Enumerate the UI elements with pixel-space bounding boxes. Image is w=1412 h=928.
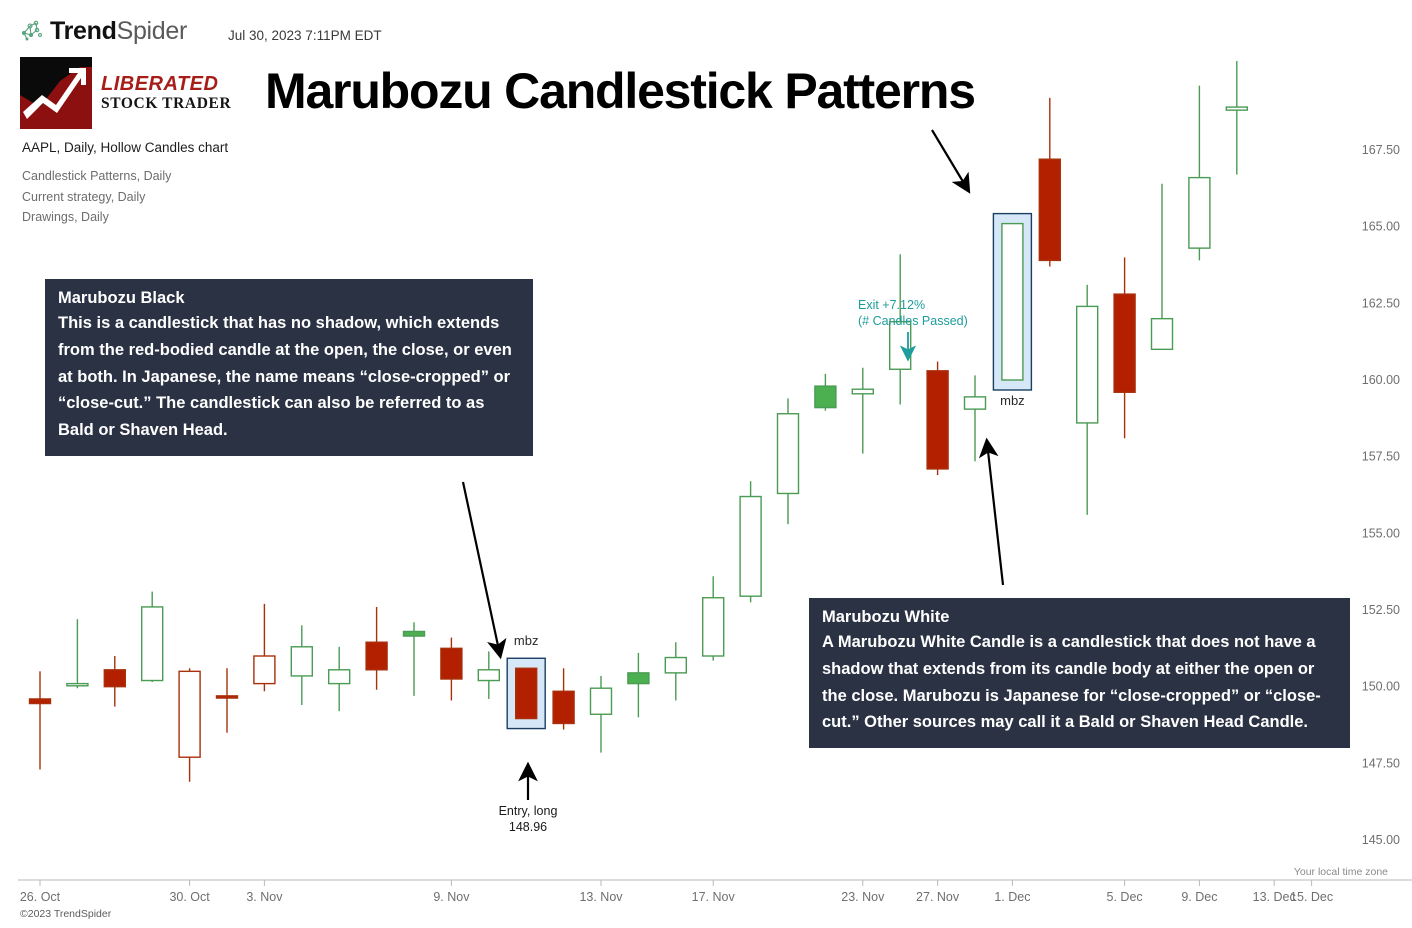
page-title: Marubozu Candlestick Patterns [265,62,975,120]
trendspider-brand: TrendSpider [18,18,187,44]
pattern-tag-mbz-white: mbz [1000,393,1025,408]
pattern-highlight-box [993,214,1031,390]
candlestick [1039,98,1060,267]
meta-line-candlestick-patterns: Candlestick Patterns, Daily [22,166,171,187]
capture-timestamp: Jul 30, 2023 7:11PM EDT [228,28,382,43]
candlestick [1077,285,1098,515]
exit-candles-passed: (# Candles Passed) [858,314,968,330]
liberated-stock-trader-logo: LIBERATED STOCK TRADER [20,57,231,129]
candlestick [740,481,761,602]
date-axis-tick: 5. Dec [1107,890,1143,904]
candlestick [329,647,350,711]
spider-node-graph-icon [18,18,44,44]
candlestick [1114,257,1135,438]
date-axis-tick: 3. Nov [246,890,283,904]
copyright-notice: ©2023 TrendSpider [20,908,111,920]
rising-chart-arrow-icon [20,57,92,129]
candlestick [516,668,537,718]
candlestick [1002,224,1023,380]
callout-marubozu-black: Marubozu Black This is a candlestick tha… [45,279,533,456]
candlestick [478,651,499,699]
candlestick [1226,61,1247,174]
entry-trade-label: Entry, long 148.96 [499,803,558,835]
lst-line2: STOCK TRADER [101,95,231,113]
exit-pct: Exit +7.12% [858,298,968,314]
candlestick [30,671,51,769]
indicator-meta-list: Candlestick Patterns, Daily Current stra… [22,166,171,228]
callout-white-pointer-arrow [987,442,1003,585]
candlestick [254,604,275,691]
price-axis-tick: 147.50 [1362,756,1400,770]
candlestick [1189,86,1210,261]
pattern-highlight-box [507,658,545,728]
candlestick [665,642,686,700]
brand-name-light: Spider [117,17,187,45]
meta-line-current-strategy: Current strategy, Daily [22,187,171,208]
price-axis-tick: 152.50 [1362,603,1400,617]
date-axis-tick: 27. Nov [916,890,960,904]
callout-white-title: Marubozu White [822,607,1337,628]
callout-marubozu-white: Marubozu White A Marubozu White Candle i… [809,598,1350,748]
candlestick [890,254,911,404]
candlestick [366,607,387,690]
candlestick [927,362,948,475]
price-axis-tick: 165.00 [1362,220,1400,234]
candlestick [703,576,724,660]
timezone-note: Your local time zone [1294,866,1388,878]
liberated-stock-trader-text: LIBERATED STOCK TRADER [101,73,231,113]
candlestick [291,625,312,705]
candlestick [815,374,836,411]
date-axis-tick: 26. Oct [20,890,61,904]
date-axis-tick: 13. Dec [1253,890,1296,904]
date-axis-tick: 17. Nov [692,890,736,904]
date-axis-tick: 15. Dec [1290,890,1333,904]
date-axis-tick: 30. Oct [169,890,210,904]
price-axis-tick: 167.50 [1362,143,1400,157]
candlestick [104,656,125,707]
lst-line1: LIBERATED [101,73,231,95]
candlestick [217,668,238,732]
candlestick [852,368,873,454]
price-axis-tick: 145.00 [1362,833,1400,847]
entry-direction: Entry, long [499,803,558,819]
brand-name-bold: Trend [50,17,117,45]
symbol-interval-line: AAPL, Daily, Hollow Candles chart [22,140,228,155]
callout-black-body: This is a candlestick that has no shadow… [58,310,520,444]
price-axis-tick: 162.50 [1362,296,1400,310]
trendspider-wordmark: TrendSpider [50,18,187,44]
pattern-tag-mbz-black: mbz [514,633,539,648]
callout-white-top-pointer-arrow [932,130,968,190]
date-axis-tick: 9. Dec [1181,890,1217,904]
candlestick [965,375,986,461]
price-axis-tick: 150.00 [1362,680,1400,694]
candlestick [628,653,649,717]
candlestick [441,638,462,701]
candlestick [778,398,799,524]
candlestick [591,676,612,753]
date-axis-tick: 23. Nov [841,890,885,904]
entry-price: 148.96 [499,819,558,835]
price-axis-tick: 155.00 [1362,526,1400,540]
date-axis-tick: 1. Dec [994,890,1030,904]
callout-black-title: Marubozu Black [58,288,520,309]
callout-white-body: A Marubozu White Candle is a candlestick… [822,629,1337,736]
candlestick [67,619,88,688]
candlestick [1152,184,1173,350]
exit-trade-label: Exit +7.12% (# Candles Passed) [858,298,968,329]
date-axis-tick: 13. Nov [579,890,623,904]
candlestick [404,622,425,696]
meta-line-drawings: Drawings, Daily [22,207,171,228]
callout-black-pointer-arrow [463,482,500,655]
price-axis-tick: 157.50 [1362,450,1400,464]
candlestick [179,668,200,781]
candlestick [553,668,574,729]
candlestick [142,592,163,682]
date-axis-tick: 9. Nov [433,890,470,904]
price-axis-tick: 160.00 [1362,373,1400,387]
